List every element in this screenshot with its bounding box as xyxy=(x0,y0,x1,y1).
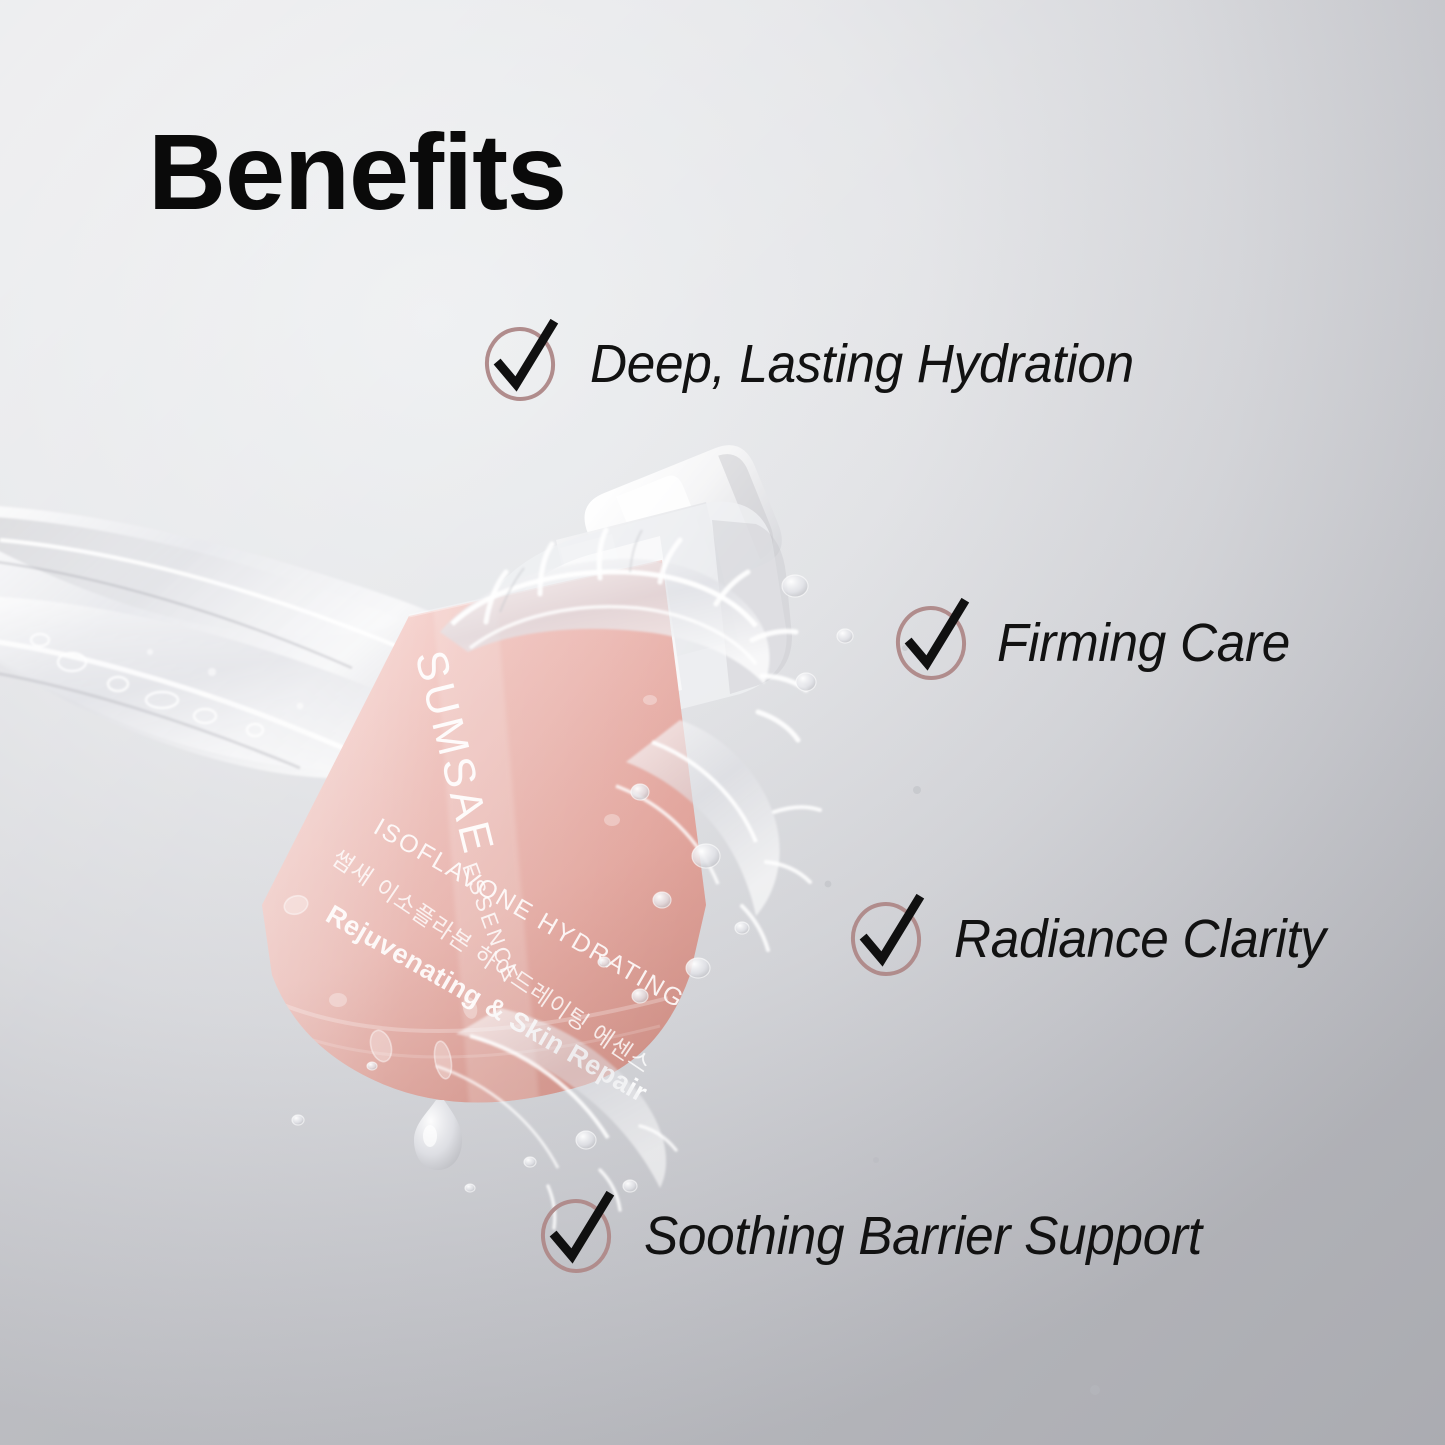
check-circle-icon xyxy=(482,322,562,406)
benefit-item-radiance-clarity: Radiance Clarity xyxy=(848,897,1345,981)
check-circle-icon xyxy=(848,897,928,981)
water-droplet-hanging xyxy=(414,1100,462,1170)
check-circle-icon xyxy=(893,601,973,685)
benefit-item-firming-care: Firming Care xyxy=(893,601,1305,685)
benefit-item-soothing-barrier-support: Soothing Barrier Support xyxy=(538,1194,1231,1278)
benefit-label: Radiance Clarity xyxy=(954,911,1326,968)
product-benefits-banner: SUMSAE ISOFLAVONE HYDRATING ESSENCE 썸새 이… xyxy=(0,0,1445,1445)
benefit-item-deep-lasting-hydration: Deep, Lasting Hydration xyxy=(482,322,1162,406)
check-circle-icon xyxy=(538,1194,618,1278)
water-microdroplets xyxy=(701,645,1100,1395)
benefit-label: Deep, Lasting Hydration xyxy=(590,336,1134,393)
benefit-label: Soothing Barrier Support xyxy=(644,1208,1202,1265)
page-title: Benefits xyxy=(148,118,566,226)
benefit-label: Firming Care xyxy=(997,615,1290,672)
